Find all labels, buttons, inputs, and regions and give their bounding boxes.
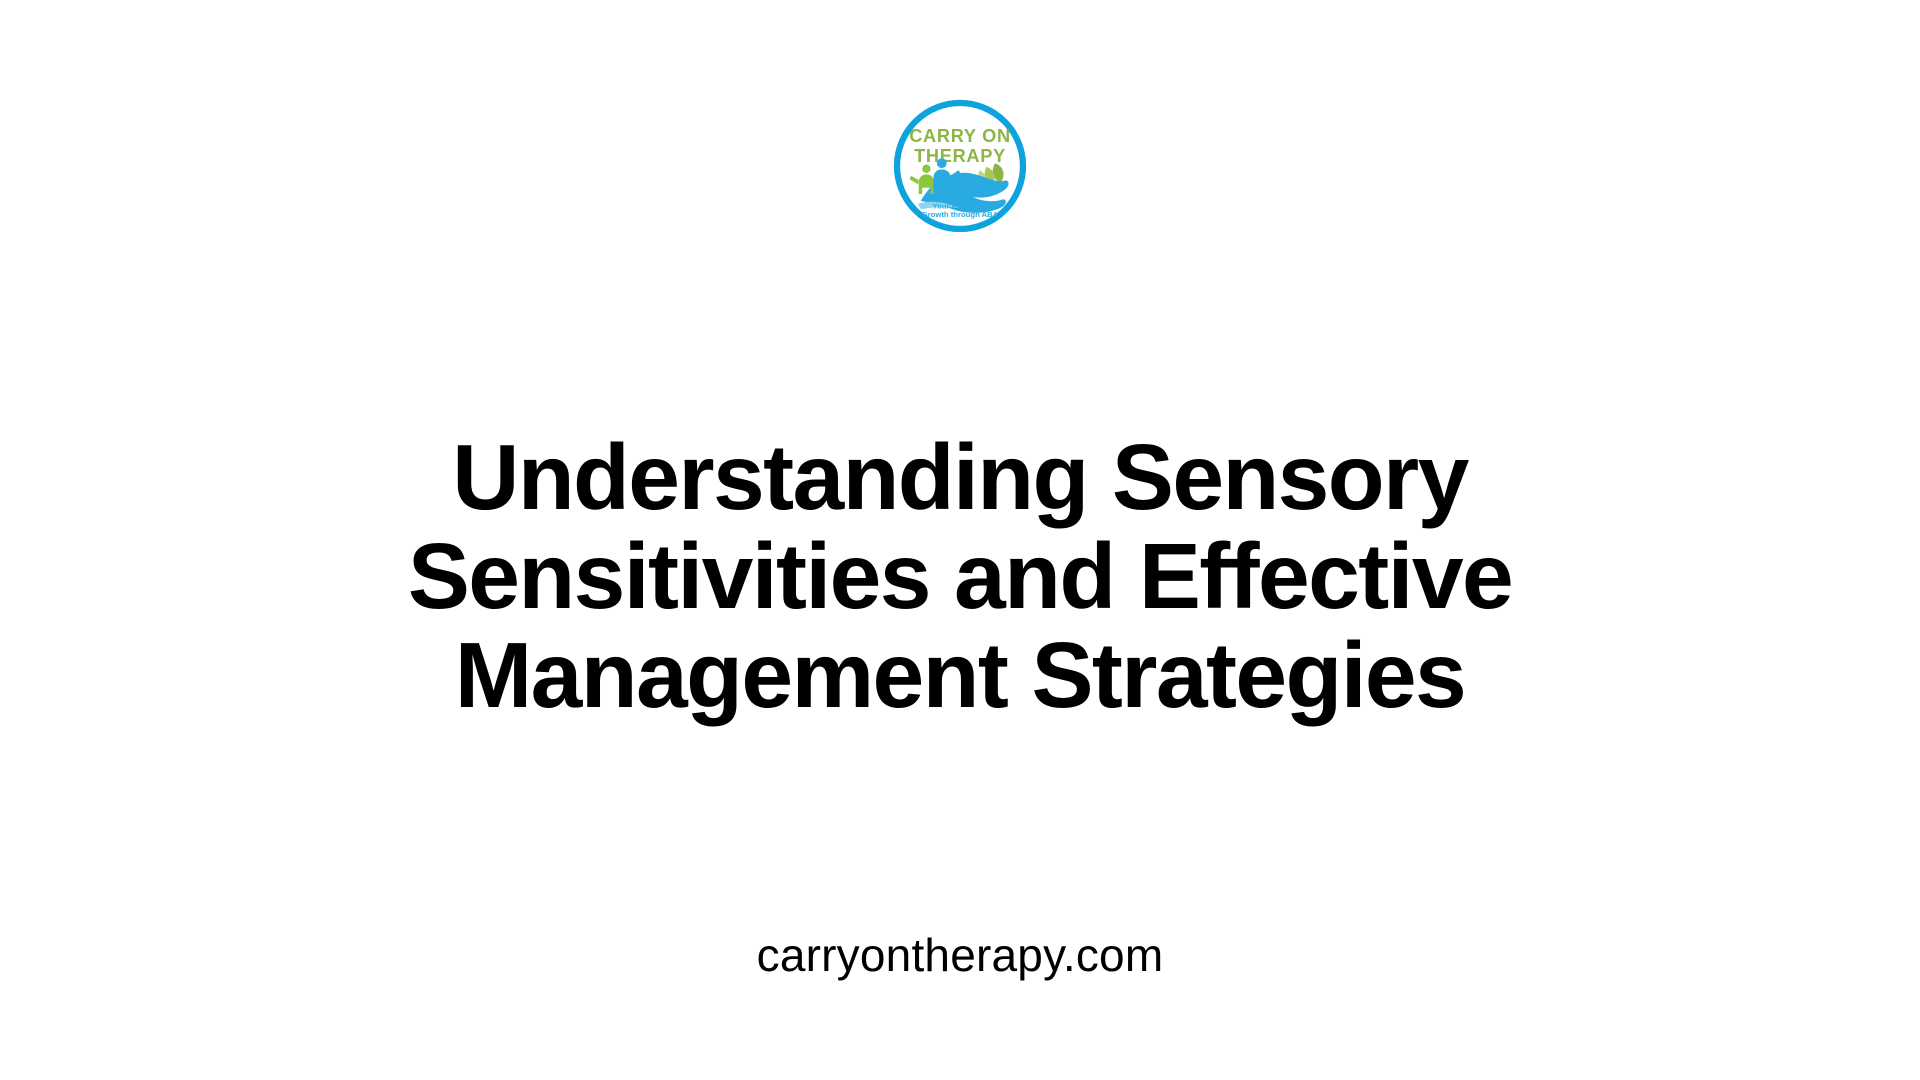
logo-graphic: CARRY ON THERAPY [890, 96, 1030, 236]
page-title: Understanding Sensory Sensitivities and … [0, 428, 1920, 725]
logo-brand-line-1: CARRY ON [909, 126, 1011, 146]
page-title-line-2: Sensitivities and Effective [180, 527, 1740, 626]
logo-tagline-line-1: Your Partner in [933, 202, 988, 211]
carry-on-therapy-logo[interactable]: CARRY ON THERAPY [890, 96, 1030, 236]
logo-tagline-line-2: Growth through ABA [922, 210, 999, 219]
title-card: CARRY ON THERAPY [0, 0, 1920, 1080]
footer: carryontherapy.com [0, 927, 1920, 983]
logo-brand-line-2: THERAPY [914, 146, 1006, 166]
page-title-line-3: Management Strategies [180, 626, 1740, 725]
page-title-line-1: Understanding Sensory [180, 428, 1740, 527]
site-url[interactable]: carryontherapy.com [757, 929, 1164, 981]
